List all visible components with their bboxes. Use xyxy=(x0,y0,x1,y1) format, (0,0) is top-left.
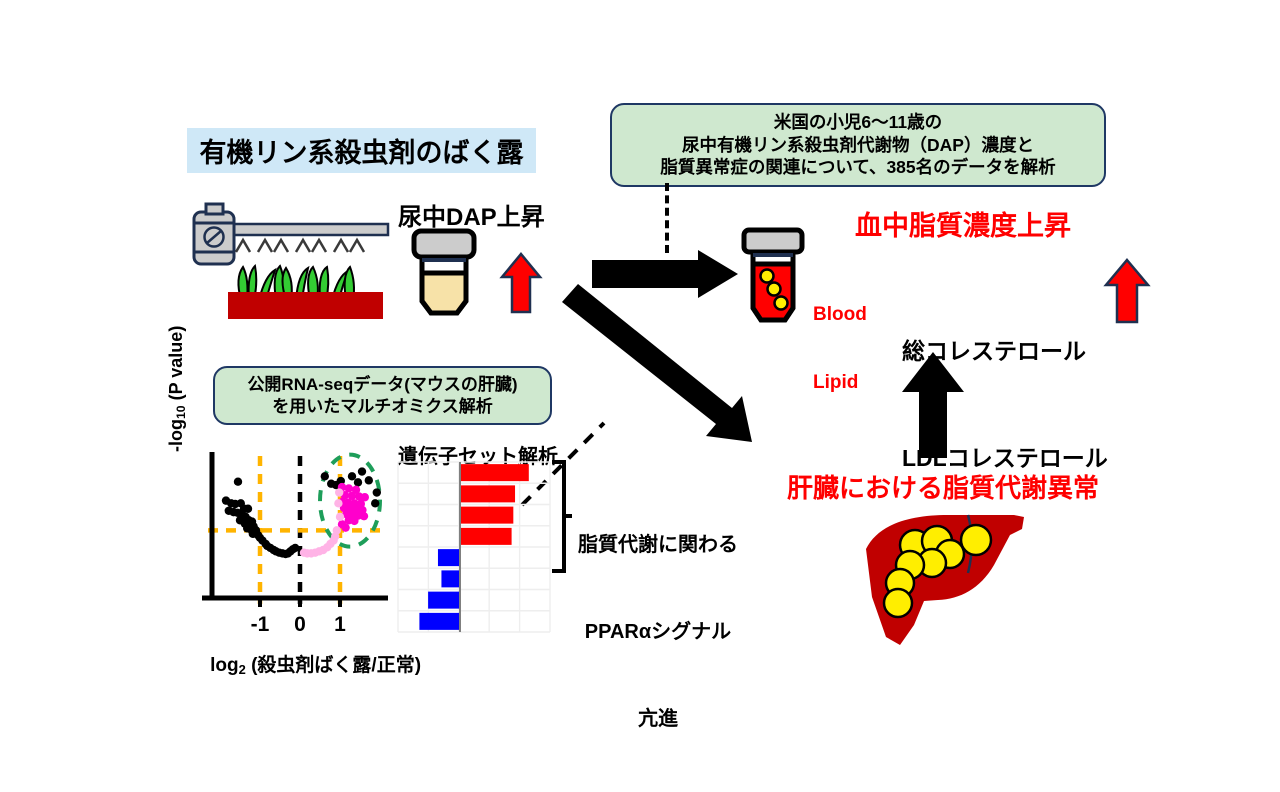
study-line-1: 米国の小児6〜11歳の xyxy=(660,111,1055,133)
rnaseq-line-2: を用いたマルチオミクス解析 xyxy=(247,396,517,418)
ppar-line-2: PPARαシグナル xyxy=(578,618,738,647)
ppar-signal-annotation: 脂質代謝に関わる PPARαシグナル 亢進 xyxy=(578,473,738,792)
study-line-3: 脂質異常症の関連について、385名のデータを解析 xyxy=(660,156,1055,178)
volcano-plot: -101 xyxy=(176,446,396,656)
blood-lipid-tag-line-1: Blood xyxy=(813,304,867,327)
rnaseq-description-callout: 公開RNA-seqデータ(マウスの肝臓) を用いたマルチオミクス解析 xyxy=(213,366,552,425)
blood-lipid-title: 血中脂質濃度上昇 xyxy=(855,204,1071,243)
urinary-dap-label: 尿中DAP上昇 xyxy=(398,197,545,232)
ppar-line-1: 脂質代謝に関わる xyxy=(578,531,738,560)
volcano-ylabel-sub: 10 xyxy=(174,405,188,419)
volcano-xlabel-base: log xyxy=(210,655,239,676)
black-up-arrow-icon xyxy=(900,350,966,460)
volcano-y-axis-label: -log10 (P value) xyxy=(166,292,188,452)
liver-abnormality-label: 肝臓における脂質代謝異常 xyxy=(787,468,1099,505)
red-up-arrow-icon xyxy=(500,252,542,314)
blood-lipid-tag-line-2: Lipid xyxy=(813,372,867,395)
blood-lipid-tag: Blood Lipid xyxy=(813,258,867,440)
pesticide-sprayer-icon xyxy=(186,204,392,328)
study-description-callout: 米国の小児6〜11歳の 尿中有機リン系殺虫剤代謝物（DAP）濃度と 脂質異常症の… xyxy=(610,103,1106,187)
geneset-bracket xyxy=(548,459,572,574)
volcano-xlabel-rest: (殺虫剤ばく露/正常) xyxy=(246,655,421,676)
urine-sample-cup-icon xyxy=(408,229,486,325)
exposure-banner-label: 有機リン系殺虫剤のばく露 xyxy=(200,131,524,170)
volcano-xlabel-sub: 2 xyxy=(239,662,246,677)
study-line-2: 尿中有機リン系殺虫剤代謝物（DAP）濃度と xyxy=(660,134,1055,156)
red-up-arrow-icon xyxy=(1104,258,1150,324)
volcano-x-axis-label: log2 (殺虫剤ばく露/正常) xyxy=(189,628,421,699)
exposure-banner: 有機リン系殺虫剤のばく露 xyxy=(187,128,536,173)
concept-diagram-canvas: 有機リン系殺虫剤のばく露 xyxy=(0,0,1280,720)
rnaseq-line-1: 公開RNA-seqデータ(マウスの肝臓) xyxy=(247,374,517,396)
blood-sample-tube-icon xyxy=(738,228,810,328)
liver-icon xyxy=(838,505,1070,660)
volcano-ylabel-rest: (P value) xyxy=(166,326,186,406)
geneset-bar-chart xyxy=(398,462,550,632)
study-callout-connector xyxy=(665,183,669,253)
